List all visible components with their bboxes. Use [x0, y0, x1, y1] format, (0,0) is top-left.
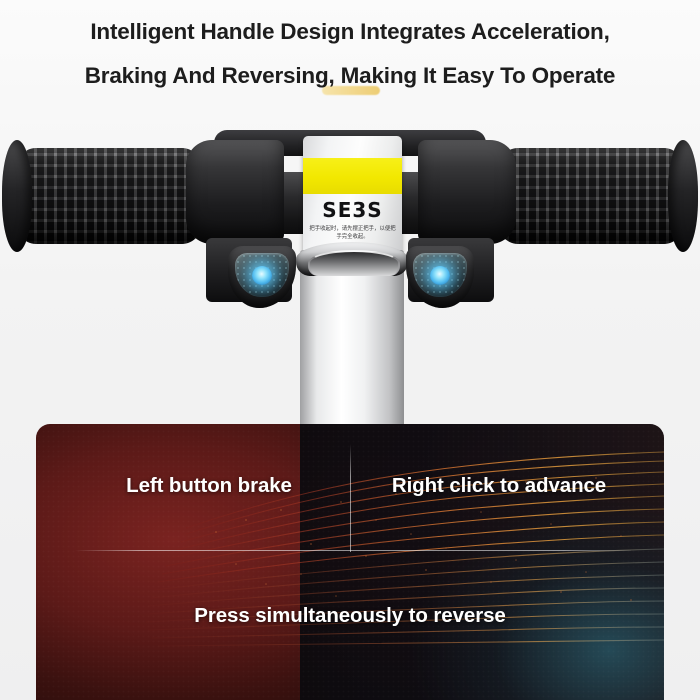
- caption-panel: Left button brake Right click to advance…: [36, 424, 664, 700]
- caption-reverse: Press simultaneously to reverse: [36, 604, 664, 628]
- right-rubber-grip: [496, 148, 686, 244]
- left-grip-end-cap: [2, 140, 32, 252]
- left-rubber-grip: [14, 148, 204, 244]
- heading-line-2: Braking And Reversing, Making It Easy To…: [0, 54, 700, 98]
- caption-left-brake: Left button brake: [84, 474, 334, 498]
- left-thumb-face: [235, 253, 289, 297]
- console-yellow-band: [303, 158, 402, 194]
- left-led-indicator-icon: [252, 266, 272, 285]
- steering-stem: [300, 250, 404, 440]
- heading-line-1: Intelligent Handle Design Integrates Acc…: [0, 10, 700, 54]
- right-grip-end-cap: [668, 140, 698, 252]
- console-warning-text: 把手收起时，请先摆正把手，以便把手完全收起。: [309, 226, 396, 241]
- product-feature-image: Intelligent Handle Design Integrates Acc…: [0, 0, 700, 700]
- product-photo: SE3S 把手收起时，请先摆正把手，以便把手完全收起。: [0, 110, 700, 440]
- caption-right-advance: Right click to advance: [366, 474, 632, 498]
- left-folding-arm: [186, 140, 284, 244]
- caption-divider-vertical: [350, 444, 351, 552]
- caption-divider-horizontal: [75, 550, 631, 551]
- right-thumb-face: [413, 253, 467, 297]
- heading-block: Intelligent Handle Design Integrates Acc…: [0, 0, 700, 98]
- right-folding-arm: [418, 140, 516, 244]
- right-led-indicator-icon: [430, 266, 450, 285]
- brand-logo: SE3S: [303, 198, 402, 222]
- stem-ring: [308, 250, 400, 276]
